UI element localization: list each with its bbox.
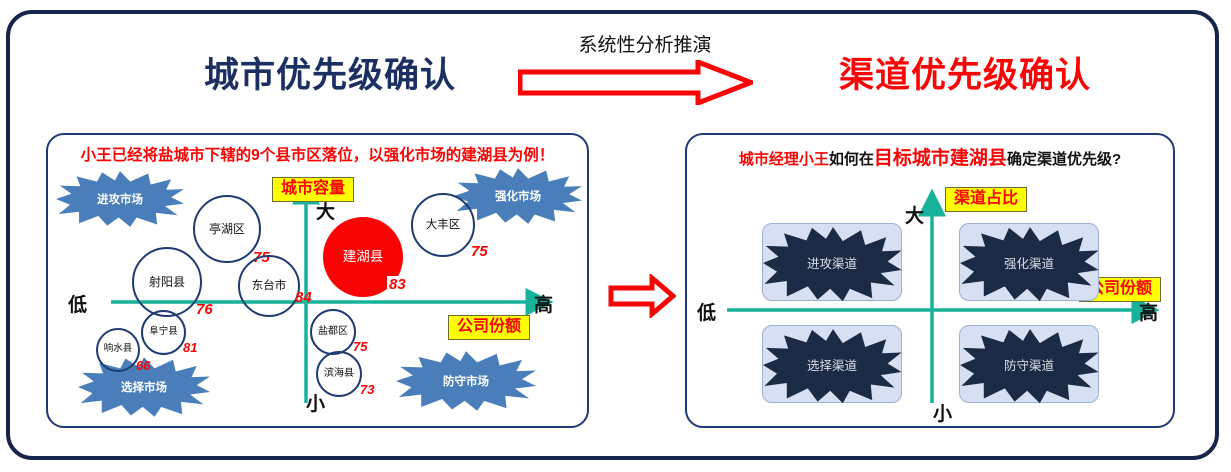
bubble-yandu-label: 盐都区 bbox=[312, 311, 354, 353]
right-axis-bottom-label: 小 bbox=[933, 399, 952, 426]
right-y-axis-badge: 渠道占比 bbox=[945, 187, 1027, 212]
bubble-funing-value: 81 bbox=[183, 340, 197, 355]
quadrant-select-channel[interactable]: 选择渠道 bbox=[762, 325, 902, 403]
right-axis-low-label: 低 bbox=[697, 298, 716, 325]
right-axis-top-label: 大 bbox=[905, 201, 924, 228]
bubble-sheyang-label: 射阳县 bbox=[134, 249, 200, 315]
transition-label: 系统性分析推演 bbox=[520, 30, 770, 57]
bubble-xiangshui-label: 响水县 bbox=[98, 330, 138, 370]
left-panel: 小王已经将盐城市下辖的9个县市区落位，以强化市场的建湖县为例！ 大 小 低 高 … bbox=[46, 133, 589, 428]
quadrant-strengthen-channel-label: 强化渠道 bbox=[960, 224, 1098, 300]
bubble-dongtai[interactable]: 东台市 84 bbox=[238, 255, 300, 317]
quadrant-attack-channel-label: 进攻渠道 bbox=[763, 224, 901, 300]
quadrant-defend-channel-label: 防守渠道 bbox=[960, 326, 1098, 402]
bubble-tinghu-label: 亭湖区 bbox=[195, 197, 259, 261]
bubble-sheyang-value: 76 bbox=[196, 301, 213, 318]
market-star-attack: 进攻市场 bbox=[56, 170, 184, 228]
bubble-binhai[interactable]: 滨海县 73 bbox=[316, 351, 362, 397]
quadrant-defend-channel[interactable]: 防守渠道 bbox=[959, 325, 1099, 403]
panel-transition-arrow-icon bbox=[608, 274, 676, 318]
quadrant-strengthen-channel[interactable]: 强化渠道 bbox=[959, 223, 1099, 301]
bubble-tinghu[interactable]: 亭湖区 75 bbox=[193, 195, 261, 263]
bubble-binhai-label: 滨海县 bbox=[318, 353, 360, 395]
market-star-defend-label: 防守市场 bbox=[396, 350, 536, 412]
bubble-xiangshui-value: 66 bbox=[136, 358, 150, 373]
bubble-yandu[interactable]: 盐都区 75 bbox=[310, 309, 356, 355]
bubble-yandu-value: 75 bbox=[353, 339, 367, 354]
bubble-dafeng-label: 大丰区 bbox=[413, 195, 473, 255]
bubble-dafeng-value: 75 bbox=[471, 243, 488, 260]
bubble-dongtai-value: 84 bbox=[295, 289, 312, 306]
right-axis-high-label: 高 bbox=[1139, 298, 1158, 325]
bubble-dongtai-label: 东台市 bbox=[240, 257, 298, 315]
bubble-jianhu[interactable]: 建湖县 83 bbox=[323, 217, 403, 297]
right-panel: 城市经理小王如何在目标城市建湖县确定渠道优先级? 大 小 低 高 渠道占比 公司… bbox=[685, 133, 1175, 428]
bubble-xiangshui[interactable]: 响水县 66 bbox=[96, 328, 140, 372]
quadrant-attack-channel[interactable]: 进攻渠道 bbox=[762, 223, 902, 301]
left-x-axis-badge: 公司份额 bbox=[448, 315, 530, 340]
bubble-dafeng[interactable]: 大丰区 75 bbox=[411, 193, 475, 257]
bubble-binhai-value: 73 bbox=[360, 382, 374, 397]
bubble-sheyang[interactable]: 射阳县 76 bbox=[132, 247, 202, 317]
slide-canvas: 城市优先级确认 渠道优先级确认 系统性分析推演 小王已经将盐城市下辖的9个县市区… bbox=[0, 0, 1231, 472]
bubble-jianhu-value: 83 bbox=[387, 276, 406, 293]
left-y-axis-badge: 城市容量 bbox=[272, 177, 354, 202]
bubble-funing-label: 阜宁县 bbox=[143, 312, 184, 353]
transition-arrow-icon bbox=[518, 60, 753, 105]
market-star-defend: 防守市场 bbox=[396, 350, 536, 412]
page-title-left: 城市优先级确认 bbox=[120, 47, 540, 98]
page-title-right: 渠道优先级确认 bbox=[760, 47, 1170, 98]
left-axis-low-label: 低 bbox=[68, 290, 87, 317]
left-axis-high-label: 高 bbox=[534, 290, 553, 317]
market-star-attack-label: 进攻市场 bbox=[56, 170, 184, 228]
bubble-funing[interactable]: 阜宁县 81 bbox=[141, 310, 186, 355]
quadrant-select-channel-label: 选择渠道 bbox=[763, 326, 901, 402]
